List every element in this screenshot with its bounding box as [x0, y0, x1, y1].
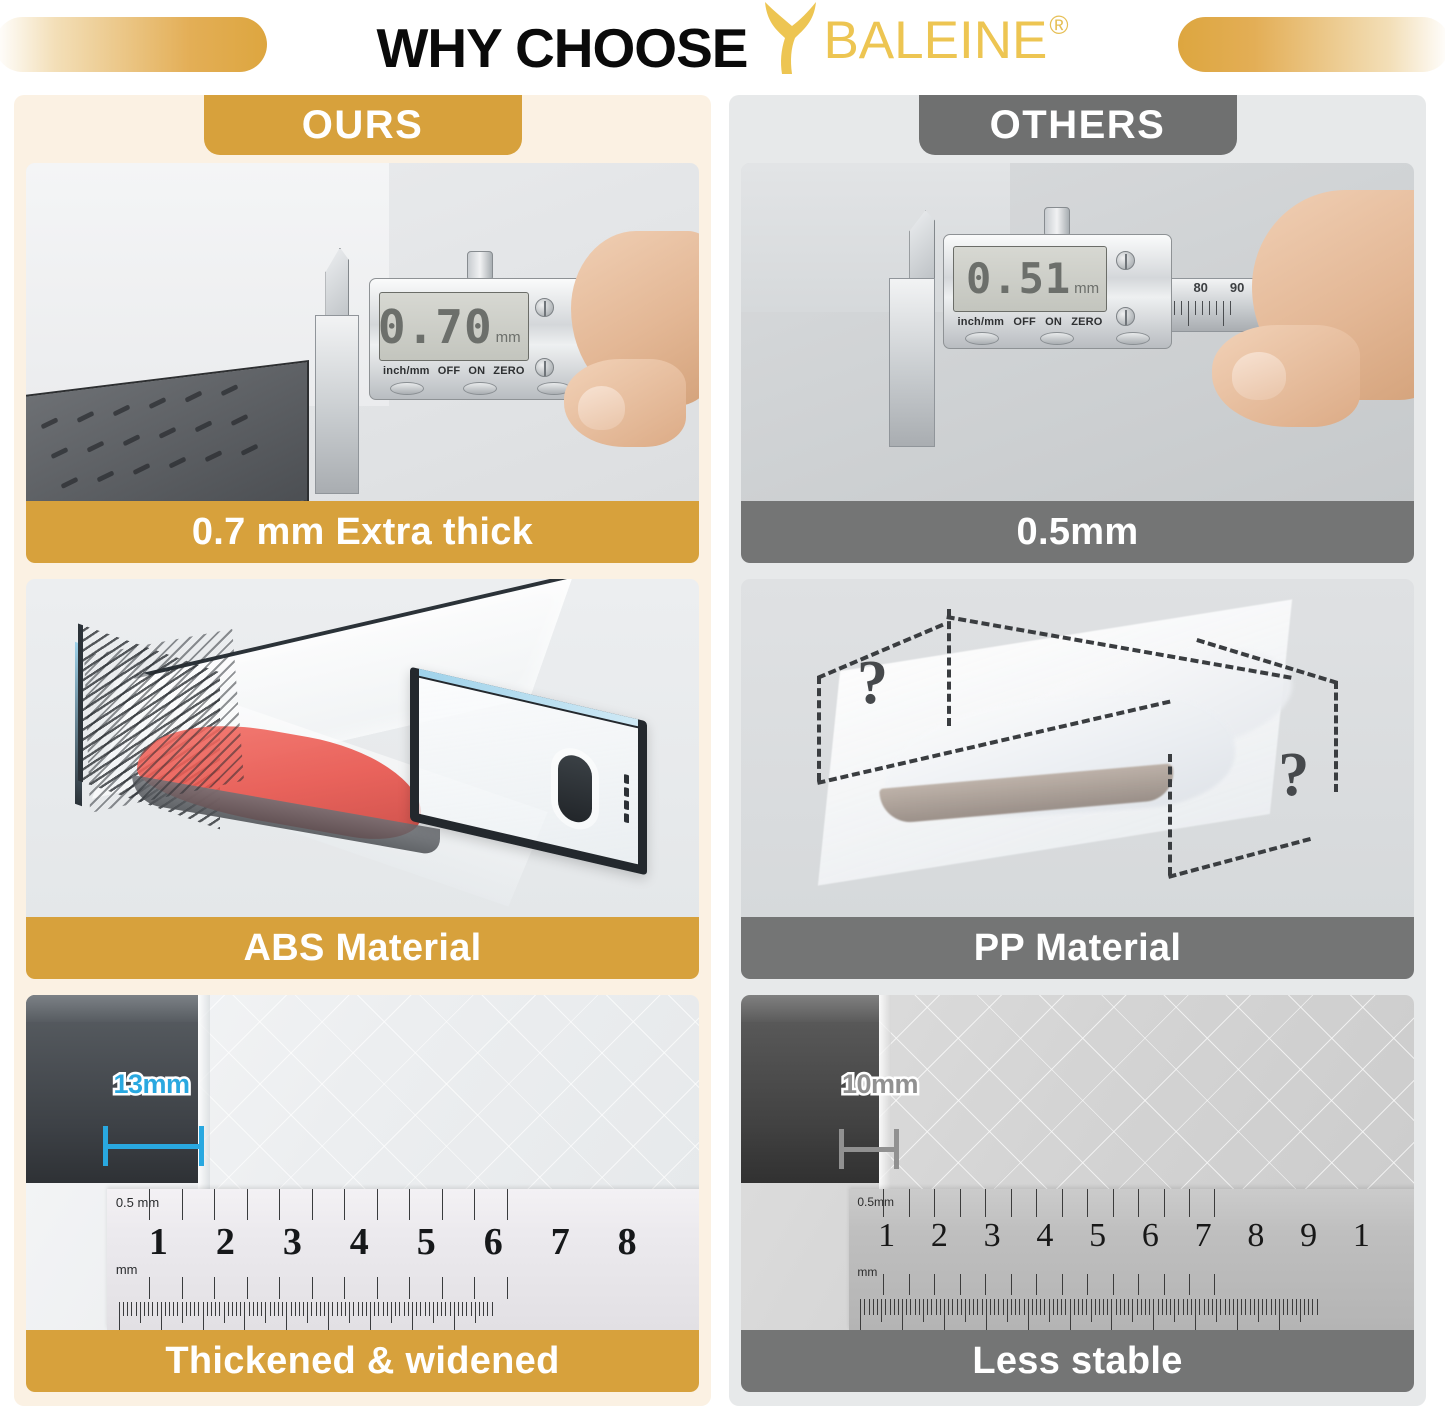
ruler-mm-tick	[332, 1302, 333, 1317]
ruler-mm-tick	[358, 1302, 359, 1317]
ruler-mm-tick	[399, 1302, 400, 1317]
whale-tail-icon	[759, 0, 821, 81]
caliper-screw-bottom	[535, 358, 554, 377]
ruler-mm-tick	[140, 1302, 141, 1323]
tile-ours-thickness: 70 80 90 0.70 mm inc	[26, 163, 699, 563]
ruler-mm-tick	[1070, 1299, 1071, 1330]
ruler-mm-tick	[349, 1302, 350, 1323]
ruler: 0.5 mm mm 1 2 3	[107, 1189, 699, 1330]
ruler-mm-tick	[211, 1302, 212, 1317]
ruler-mm-tick	[1145, 1299, 1146, 1315]
ruler-mm-tick	[1178, 1299, 1179, 1315]
caliper-unit: mm	[1074, 280, 1099, 297]
thumbnail	[1232, 352, 1286, 399]
ruler-mm-tick	[270, 1302, 271, 1317]
caption-others-thickness: 0.5mm	[741, 501, 1414, 563]
ruler-mm-tick	[253, 1302, 254, 1317]
caliper-screw-top	[535, 298, 554, 317]
ruler-mm-tick	[923, 1299, 924, 1322]
ruler-mm-tick	[1149, 1299, 1150, 1315]
caliper-button-inchmm[interactable]: inch/mm	[383, 365, 430, 377]
box-outline-bottom	[1168, 837, 1311, 879]
ruler-mm-tick	[224, 1302, 225, 1323]
ruler-mm-tick	[881, 1299, 882, 1322]
ruler-mm-tick	[362, 1302, 363, 1317]
ruler-mm-tick	[1049, 1299, 1050, 1322]
ruler-mm-tick	[119, 1302, 120, 1330]
ruler-mm-tick	[1141, 1299, 1142, 1315]
ruler-mm-tick	[236, 1302, 237, 1317]
ruler-mm-tick	[203, 1302, 204, 1330]
ruler-mm-tick	[1308, 1299, 1309, 1315]
ruler-mm-tick	[261, 1302, 262, 1317]
ruler-mm-tick	[311, 1302, 312, 1317]
ruler-mm-tick	[1204, 1299, 1205, 1315]
ruler-mm-tick	[961, 1299, 962, 1315]
caliper-lcd: 0.51 mm	[953, 246, 1107, 311]
ruler-mm-tick	[207, 1302, 208, 1317]
ruler-mm-tick	[136, 1302, 137, 1317]
column-header-ours: OURS	[14, 95, 711, 163]
caliper-button-off[interactable]: OFF	[438, 365, 461, 377]
caption-ours-width: Thickened & widened	[26, 1330, 699, 1392]
caliper-button-on[interactable]: ON	[1045, 316, 1062, 328]
ruler-mm-tick	[1220, 1299, 1221, 1315]
ruler-millimetre-ticks	[849, 1299, 1414, 1330]
ruler-millimetre-ticks	[107, 1302, 699, 1330]
tile-ours-material: ABS Material	[26, 579, 699, 979]
ruler-mm-tick	[228, 1302, 229, 1317]
caliper-button-on[interactable]: ON	[468, 365, 485, 377]
abs-shoe-box	[66, 613, 658, 883]
ruler-mm-tick	[265, 1302, 266, 1323]
caliper-knobs	[370, 382, 590, 395]
ruler-mm-tick	[864, 1299, 865, 1315]
ruler-mm-tick	[936, 1299, 937, 1315]
ruler-mm-tick	[885, 1299, 886, 1315]
ruler-mm-tick	[471, 1302, 472, 1317]
ruler-number: 9	[1282, 1217, 1335, 1255]
tab-others[interactable]: OTHERS	[919, 95, 1237, 155]
header-accent-bar-left	[0, 17, 267, 72]
ruler-mm-tick	[1074, 1299, 1075, 1315]
box-outline-mid	[947, 609, 951, 725]
ruler-mm-tick	[173, 1302, 174, 1317]
ruler-mm-tick	[1065, 1299, 1066, 1315]
ruler-mm-tick	[374, 1302, 375, 1317]
ruler-mm-tick	[1057, 1299, 1058, 1315]
tab-ours[interactable]: OURS	[204, 95, 522, 155]
caliper-lower-jaw	[889, 278, 935, 447]
caliper-button-inchmm[interactable]: inch/mm	[958, 316, 1005, 328]
ruler-mm-tick	[977, 1299, 978, 1315]
question-mark-icon-left: ?	[857, 648, 888, 719]
column-ours: OURS	[14, 95, 711, 1406]
ruler-mm-tick	[1116, 1299, 1117, 1315]
ruler-mm-tick	[441, 1302, 442, 1317]
ruler-mm-tick	[919, 1299, 920, 1315]
tile-others-width: 10mm 0.5mm mm	[741, 995, 1414, 1392]
ruler-mm-tick	[869, 1299, 870, 1315]
scale-num: 90	[1230, 280, 1244, 295]
ruler-mm-tick	[445, 1302, 446, 1317]
measurement-bracket	[839, 1129, 900, 1169]
tile-others-material: ? ? PP Material	[741, 579, 1414, 979]
ruler-mm-tick	[450, 1302, 451, 1317]
question-mark-icon-right: ?	[1278, 740, 1309, 811]
ruler-mm-tick	[1120, 1299, 1121, 1315]
photo-abs-box	[26, 579, 699, 917]
registered-trademark-icon: ®	[1049, 10, 1068, 41]
ruler-mm-tick	[1241, 1299, 1242, 1315]
ruler-mm-tick	[303, 1302, 304, 1317]
caliper-reading: 0.70	[378, 300, 493, 354]
ruler-mm-tick	[148, 1302, 149, 1317]
ruler-mm-tick	[1040, 1299, 1041, 1315]
caption-ours-thickness: 0.7 mm Extra thick	[26, 501, 699, 563]
ruler-mm-tick	[890, 1299, 891, 1315]
ruler-mm-tick	[1082, 1299, 1083, 1315]
ruler-mm-tick	[1258, 1299, 1259, 1322]
photo-caliper-others: 70 80 90 0.51 mm inc	[741, 163, 1414, 501]
ruler-number: 6	[1124, 1217, 1177, 1255]
ruler-mm-tick	[307, 1302, 308, 1323]
ruler-mm-tick	[1015, 1299, 1016, 1315]
ruler-mm-tick	[1053, 1299, 1054, 1315]
ruler-mm-tick	[383, 1302, 384, 1317]
ruler-number: 1	[860, 1217, 913, 1255]
caliper-unit: mm	[496, 329, 521, 346]
caliper-lower-jaw	[315, 315, 359, 494]
ruler-mm-tick	[152, 1302, 153, 1317]
ruler-mm-tick	[898, 1299, 899, 1315]
ruler-mm-tick	[1153, 1299, 1154, 1330]
caliper-knobs	[944, 332, 1171, 345]
ruler-mm-tick	[952, 1299, 953, 1315]
ruler-mm-tick	[894, 1299, 895, 1315]
ruler-mm-tick	[973, 1299, 974, 1315]
ruler-mm-tick	[1237, 1299, 1238, 1330]
ruler-mm-tick	[291, 1302, 292, 1317]
ruler-number: 3	[966, 1217, 1019, 1255]
caliper-button-zero[interactable]: ZERO	[1071, 316, 1102, 328]
ruler-mm-tick	[1032, 1299, 1033, 1315]
ruler-unit-label: mm	[116, 1262, 138, 1277]
ruler-mm-tick	[1086, 1299, 1087, 1315]
ruler-mm-tick	[194, 1302, 195, 1317]
caliper-thumb-screw	[1044, 207, 1070, 237]
ruler-mm-tick	[1158, 1299, 1159, 1315]
ruler-number: 5	[393, 1220, 460, 1264]
ruler-mm-tick	[1266, 1299, 1267, 1315]
ruler-number: 4	[1018, 1217, 1071, 1255]
ruler-mm-tick	[1166, 1299, 1167, 1315]
measurement-bracket	[103, 1126, 204, 1166]
ruler-mm-tick	[278, 1302, 279, 1317]
box-outline-left	[817, 676, 821, 781]
measurement-label-10mm: 10mm	[842, 1069, 918, 1100]
ruler-mm-tick	[454, 1302, 455, 1330]
ruler-mm-tick	[1279, 1299, 1280, 1330]
ruler-mm-tick	[215, 1302, 216, 1317]
ruler-mm-tick	[353, 1302, 354, 1317]
ruler-mm-tick	[244, 1302, 245, 1330]
tiles-ours: 70 80 90 0.70 mm inc	[14, 163, 711, 1406]
ruler-mm-tick	[957, 1299, 958, 1315]
ruler-mm-tick	[940, 1299, 941, 1315]
ruler-number: 3	[259, 1220, 326, 1264]
caption-others-material: PP Material	[741, 917, 1414, 979]
caliper-lcd: 0.70 mm	[379, 292, 529, 361]
ruler-mm-tick	[458, 1302, 459, 1317]
box-outline-right	[1334, 681, 1338, 792]
ruler-mm-tick	[479, 1302, 480, 1317]
ruler-mm-tick	[462, 1302, 463, 1317]
ruler-mm-tick	[157, 1302, 158, 1317]
ruler-mm-tick	[131, 1302, 132, 1317]
ruler-mm-tick	[969, 1299, 970, 1315]
ruler-mm-tick	[324, 1302, 325, 1317]
ruler-mm-tick	[1271, 1299, 1272, 1315]
ruler-mm-tick	[282, 1302, 283, 1317]
ruler-mm-tick	[219, 1302, 220, 1317]
ruler-mm-tick	[186, 1302, 187, 1317]
ruler-mm-tick	[412, 1302, 413, 1330]
ruler-mm-tick	[1275, 1299, 1276, 1315]
ruler-mm-tick	[249, 1302, 250, 1317]
ruler-number: 1	[125, 1220, 192, 1264]
ruler-mm-tick	[1229, 1299, 1230, 1315]
ruler-mm-tick	[240, 1302, 241, 1317]
ruler-mm-tick	[1044, 1299, 1045, 1315]
ruler-mm-tick	[910, 1299, 911, 1315]
ruler: 0.5mm mm 1 2	[849, 1189, 1414, 1330]
ruler-mm-tick	[1304, 1299, 1305, 1315]
ruler-mm-tick	[391, 1302, 392, 1323]
box-frame-top	[741, 995, 879, 1022]
tile-ours-width: 13mm 0.5 mm mm	[26, 995, 699, 1392]
column-header-others: OTHERS	[729, 95, 1426, 163]
ruler-number: 4	[326, 1220, 393, 1264]
ruler-mm-tick	[1312, 1299, 1313, 1315]
ruler-mm-tick	[378, 1302, 379, 1317]
ruler-mm-tick	[144, 1302, 145, 1317]
caliper-screw-bottom	[1116, 307, 1135, 326]
ruler-mm-tick	[1250, 1299, 1251, 1315]
ruler-mm-tick	[1195, 1299, 1196, 1330]
ruler-mm-tick	[1287, 1299, 1288, 1315]
photo-caliper-ours: 70 80 90 0.70 mm inc	[26, 163, 699, 501]
thumbnail	[578, 386, 625, 430]
ruler-mm-tick	[915, 1299, 916, 1315]
ruler-mm-tick	[1245, 1299, 1246, 1315]
ruler-mm-tick	[982, 1299, 983, 1315]
ruler-number: 6	[460, 1220, 527, 1264]
ruler-mm-tick	[295, 1302, 296, 1317]
tile-others-thickness: 70 80 90 0.51 mm inc	[741, 163, 1414, 563]
caliper-button-labels: inch/mm OFF ON ZERO	[953, 316, 1107, 328]
ruler-mm-tick	[1183, 1299, 1184, 1315]
ruler-mm-tick	[877, 1299, 878, 1315]
ruler-mm-tick	[1216, 1299, 1217, 1322]
digital-caliper: 70 80 90 0.70 mm inc	[26, 163, 699, 501]
ruler-mm-tick	[370, 1302, 371, 1330]
ruler-mm-tick	[1262, 1299, 1263, 1315]
ruler-mm-tick	[429, 1302, 430, 1317]
ruler-mm-tick	[123, 1302, 124, 1317]
caliper-button-off[interactable]: OFF	[1013, 316, 1036, 328]
ruler-mm-tick	[1028, 1299, 1029, 1330]
brand-name: BALEINE	[823, 14, 1047, 67]
door-vent-holes	[624, 774, 629, 823]
header-title-group: WHY CHOOSE BALEINE ®	[350, 14, 1094, 81]
ruler-mm-tick	[1061, 1299, 1062, 1315]
ruler-mm-tick	[425, 1302, 426, 1317]
page-header: WHY CHOOSE BALEINE ®	[0, 0, 1445, 95]
ruler-mm-tick	[257, 1302, 258, 1317]
pp-shoe-box: ? ?	[795, 609, 1360, 886]
ruler-mm-tick	[420, 1302, 421, 1317]
ruler-mm-tick	[337, 1302, 338, 1317]
ruler-mm-tick	[1162, 1299, 1163, 1315]
caliper-thumb-screw	[467, 251, 493, 281]
ruler-mm-tick	[965, 1299, 966, 1322]
ruler-mm-tick	[475, 1302, 476, 1323]
ruler-mm-tick	[328, 1302, 329, 1330]
ruler-mm-tick	[1132, 1299, 1133, 1322]
box-frame-top	[26, 995, 198, 1022]
ruler-number: 8	[1229, 1217, 1282, 1255]
ruler-mm-tick	[998, 1299, 999, 1315]
ruler-mm-tick	[320, 1302, 321, 1317]
ruler-mm-tick	[1199, 1299, 1200, 1315]
ruler-mm-tick	[1208, 1299, 1209, 1315]
ruler-mm-tick	[1107, 1299, 1108, 1315]
ruler-mm-tick	[1300, 1299, 1301, 1322]
ruler-mm-tick	[198, 1302, 199, 1317]
ruler-mm-tick	[1003, 1299, 1004, 1315]
ruler-mm-tick	[1191, 1299, 1192, 1315]
ruler-mm-tick	[492, 1302, 493, 1317]
ruler-mm-tick	[1254, 1299, 1255, 1315]
caliper-reading: 0.51	[966, 254, 1071, 303]
ruler-mm-tick	[286, 1302, 287, 1330]
ruler-mm-tick	[169, 1302, 170, 1317]
ruler-mm-tick	[1099, 1299, 1100, 1315]
ruler-mm-tick	[165, 1302, 166, 1317]
ruler-mm-tick	[395, 1302, 396, 1317]
ruler-mm-tick	[948, 1299, 949, 1315]
ruler-mm-tick	[1225, 1299, 1226, 1315]
ruler-mm-tick	[990, 1299, 991, 1315]
ruler-mm-tick	[487, 1302, 488, 1317]
ruler-mm-tick	[127, 1302, 128, 1317]
ruler-mm-tick	[1078, 1299, 1079, 1315]
ruler-mm-tick	[437, 1302, 438, 1317]
ruler-mm-tick	[1019, 1299, 1020, 1315]
ruler-mm-tick	[906, 1299, 907, 1315]
ruler-mm-tick	[161, 1302, 162, 1330]
ruler-mm-tick	[1103, 1299, 1104, 1315]
ruler-mm-tick	[994, 1299, 995, 1315]
photo-pp-box: ? ?	[741, 579, 1414, 917]
comparison-grid: OURS	[0, 95, 1445, 1406]
caption-others-width: Less stable	[741, 1330, 1414, 1392]
ruler-number: 5	[1071, 1217, 1124, 1255]
ruler-mm-tick	[190, 1302, 191, 1317]
ruler-mm-tick	[177, 1302, 178, 1317]
ruler-mm-tick	[1124, 1299, 1125, 1315]
ruler-mm-tick	[416, 1302, 417, 1317]
ruler-number: 7	[1177, 1217, 1230, 1255]
ruler-mm-tick	[1024, 1299, 1025, 1315]
ruler-mm-tick	[1036, 1299, 1037, 1315]
caliper-button-zero[interactable]: ZERO	[493, 365, 524, 377]
ruler-mm-tick	[433, 1302, 434, 1323]
ruler-mm-tick	[1111, 1299, 1112, 1330]
ruler-mm-tick	[931, 1299, 932, 1315]
ruler-mm-tick	[299, 1302, 300, 1317]
ruler-mm-tick	[1128, 1299, 1129, 1315]
ruler-mm-tick	[944, 1299, 945, 1330]
photo-ruler-ours: 13mm 0.5 mm mm	[26, 995, 699, 1330]
ruler-mm-tick	[873, 1299, 874, 1315]
ruler-mm-tick	[902, 1299, 903, 1330]
ruler-mm-tick	[1011, 1299, 1012, 1315]
ruler-mm-tick	[1296, 1299, 1297, 1315]
ruler-mm-tick	[341, 1302, 342, 1317]
ruler-number: 2	[913, 1217, 966, 1255]
ruler-number: 1	[1335, 1217, 1388, 1255]
ruler-mm-tick	[1007, 1299, 1008, 1322]
ruler-mm-tick	[1233, 1299, 1234, 1315]
ruler-mm-tick	[387, 1302, 388, 1317]
digital-caliper: 70 80 90 0.51 mm inc	[741, 163, 1414, 501]
ruler-number: 7	[527, 1220, 594, 1264]
ruler-mm-tick	[232, 1302, 233, 1317]
door-handle[interactable]	[558, 752, 592, 826]
ruler-mm-tick	[182, 1302, 183, 1323]
ruler-mm-tick	[1317, 1299, 1318, 1315]
tiles-others: 70 80 90 0.51 mm inc	[729, 163, 1426, 1406]
ruler-mm-tick	[1283, 1299, 1284, 1315]
box-outline-front	[1168, 754, 1172, 876]
ruler-mm-tick	[1091, 1299, 1092, 1322]
ruler-mm-tick	[1292, 1299, 1293, 1315]
caliper-display-body: 0.51 mm inch/mm OFF ON ZERO	[943, 234, 1172, 349]
ruler-mm-tick	[274, 1302, 275, 1317]
photo-ruler-others: 10mm 0.5mm mm	[741, 995, 1414, 1330]
ruler-mm-tick	[1187, 1299, 1188, 1315]
ruler-mm-tick	[927, 1299, 928, 1315]
ruler-number: 8	[594, 1220, 661, 1264]
column-others: OTHERS	[729, 95, 1426, 1406]
brand-lockup: BALEINE ®	[759, 14, 1068, 81]
caption-ours-material: ABS Material	[26, 917, 699, 979]
ruler-mm-tick	[1174, 1299, 1175, 1322]
ruler-mm-tick	[860, 1299, 861, 1330]
ruler-mm-tick	[408, 1302, 409, 1317]
ruler-mm-tick	[1095, 1299, 1096, 1315]
ruler-number: 2	[192, 1220, 259, 1264]
measurement-label-13mm: 13mm	[113, 1069, 189, 1100]
page-title: WHY CHOOSE	[376, 16, 747, 80]
header-accent-bar-right	[1178, 17, 1445, 72]
ruler-mm-tick	[1212, 1299, 1213, 1315]
ruler-mm-tick	[483, 1302, 484, 1317]
ruler-mm-tick	[1137, 1299, 1138, 1315]
ruler-mm-tick	[366, 1302, 367, 1317]
